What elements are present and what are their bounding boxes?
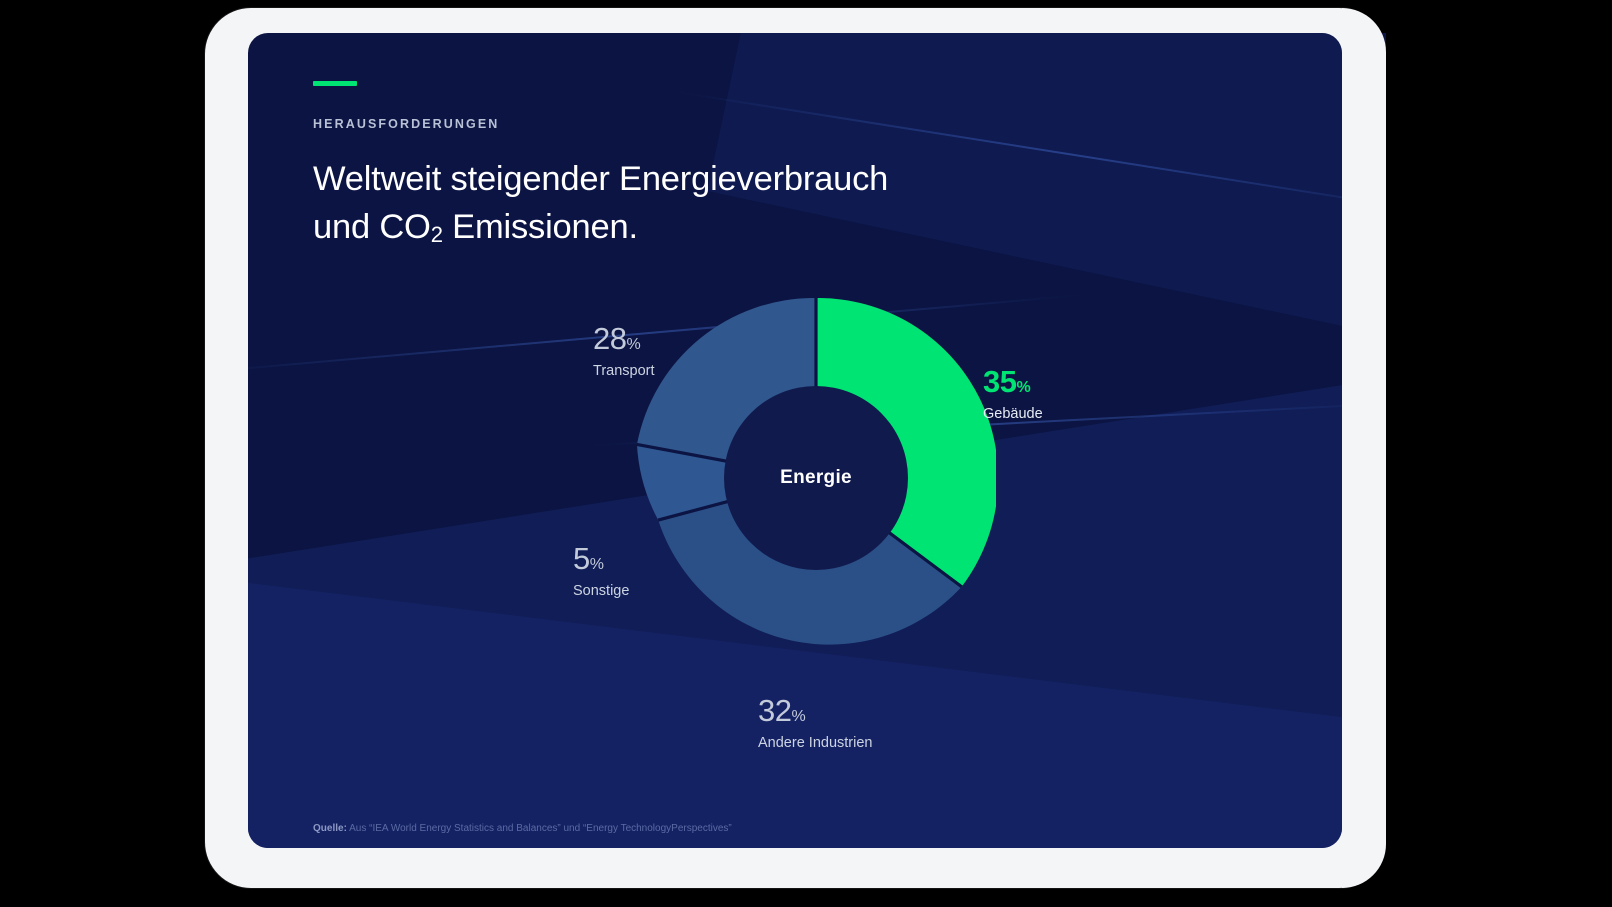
callout-andere-percent-sign: %	[791, 708, 805, 725]
callout-andere-name: Andere Industrien	[758, 735, 872, 751]
outside-device-background	[1386, 0, 1612, 907]
callout-gebaeude-value: 35%	[983, 366, 1043, 397]
callout-transport: 28% Transport	[593, 323, 655, 379]
callout-transport-percent-sign: %	[626, 336, 640, 353]
callout-andere-industrien: 32% Andere Industrien	[758, 695, 872, 751]
callout-transport-number: 28	[593, 321, 626, 356]
callout-gebaeude: 35% Gebäude	[983, 366, 1043, 422]
callout-sonstige: 5% Sonstige	[573, 543, 629, 599]
donut-hole	[724, 386, 908, 570]
slide-screen: HERAUSFORDERUNGEN Weltweit steigender En…	[248, 33, 1342, 848]
eyebrow-label: HERAUSFORDERUNGEN	[313, 117, 888, 131]
screenshot-stage: Energie HERAUSFORDERUNGEN Weltweit steig…	[0, 0, 1612, 907]
headline-subscript: 2	[431, 222, 443, 247]
callout-transport-value: 28%	[593, 323, 655, 354]
source-footnote-lead: Quelle:	[313, 823, 347, 834]
callout-gebaeude-number: 35	[983, 364, 1016, 399]
source-footnote: Quelle: Aus “IEA World Energy Statistics…	[313, 823, 732, 834]
device-bezel-right	[1342, 8, 1386, 888]
callout-transport-name: Transport	[593, 363, 655, 379]
callout-sonstige-percent-sign: %	[590, 556, 604, 573]
accent-bar	[313, 81, 357, 86]
callout-gebaeude-percent-sign: %	[1016, 379, 1030, 396]
slide-header: HERAUSFORDERUNGEN Weltweit steigender En…	[313, 81, 888, 251]
headline-tail: Emissionen.	[443, 208, 638, 246]
callout-sonstige-number: 5	[573, 541, 590, 576]
callout-andere-number: 32	[758, 693, 791, 728]
callout-sonstige-value: 5%	[573, 543, 629, 574]
callout-sonstige-name: Sonstige	[573, 583, 629, 599]
callout-andere-value: 32%	[758, 695, 872, 726]
donut-chart[interactable]	[636, 298, 996, 658]
page-title: Weltweit steigender Energieverbrauch und…	[313, 156, 888, 251]
callout-gebaeude-name: Gebäude	[983, 406, 1043, 422]
source-footnote-text: Aus “IEA World Energy Statistics and Bal…	[347, 823, 732, 834]
